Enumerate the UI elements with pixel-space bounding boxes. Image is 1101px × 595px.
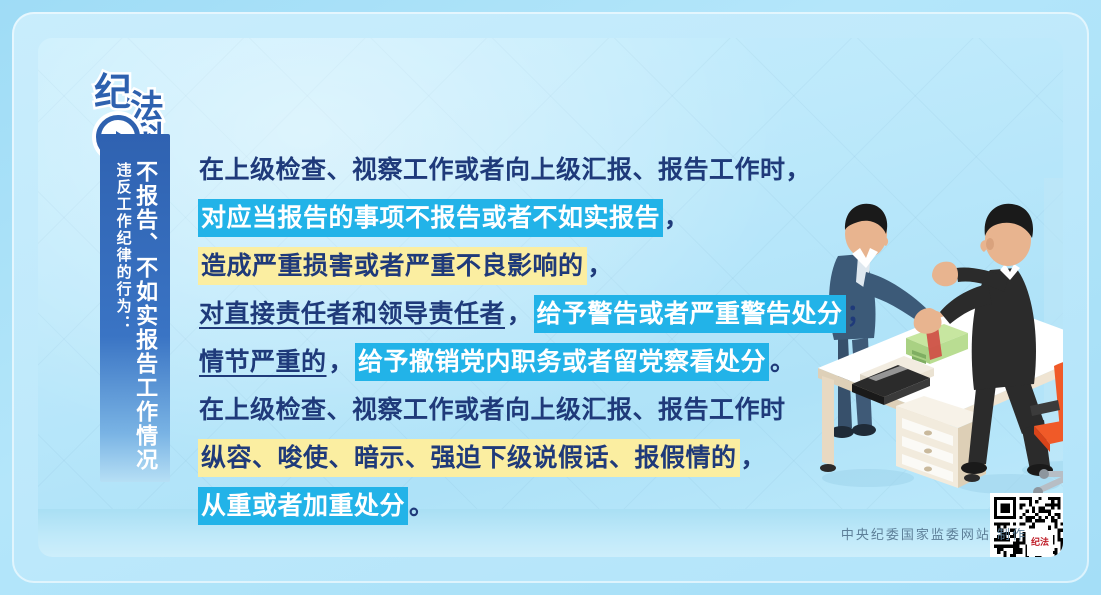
body-line: 情节严重的，给予撤销党内职务或者留党察看处分。: [198, 338, 858, 386]
body-segment-plain: ，: [740, 441, 768, 475]
qr-center-logo: 纪法: [1027, 530, 1053, 556]
body-segment-plain: ，: [587, 249, 615, 283]
body-segment-highlight-cyan: 给予撤销党内职务或者留党察看处分: [355, 343, 769, 381]
body-text-block: 在上级检查、视察工作或者向上级汇报、报告工作时，对应当报告的事项不报告或者不如实…: [198, 146, 858, 530]
body-segment-plain: 。: [408, 489, 436, 523]
poster-inner-frame: 纪 法 科 不报告、不如实报告工作情况 违反工作纪律的行为： 在上级检查、视察工…: [38, 38, 1063, 557]
poster-outer-frame: 纪 法 科 不报告、不如实报告工作情况 违反工作纪律的行为： 在上级检查、视察工…: [12, 12, 1089, 583]
body-line: 对直接责任者和领导责任者，给予警告或者严重警告处分；: [198, 290, 858, 338]
body-segment-plain: ，: [663, 201, 691, 235]
body-line: 在上级检查、视察工作或者向上级汇报、报告工作时，: [198, 146, 858, 194]
body-line: 纵容、唆使、暗示、强迫下级说假话、报假情的，: [198, 434, 858, 482]
logo-char-ji: 纪: [94, 73, 132, 111]
body-segment-highlight-yellow: 纵容、唆使、暗示、强迫下级说假话、报假情的: [198, 439, 740, 477]
body-segment-plain: 在上级检查、视察工作或者向上级汇报、报告工作时，: [198, 153, 812, 187]
body-segment-plain: ，: [328, 345, 356, 379]
body-segment-plain: 。: [769, 345, 797, 379]
body-segment-plain: ，: [506, 297, 534, 331]
body-line: 造成严重损害或者严重不良影响的，: [198, 242, 858, 290]
credit-text: 中央纪委国家监委网站 制作: [841, 524, 1027, 543]
body-line: 对应当报告的事项不报告或者不如实报告，: [198, 194, 858, 242]
banner-sub-title: 违反工作纪律的行为：: [115, 160, 131, 332]
poster-root: 纪 法 科 不报告、不如实报告工作情况 违反工作纪律的行为： 在上级检查、视察工…: [0, 0, 1101, 595]
body-segment-plain: ；: [846, 297, 874, 331]
body-segment-highlight-yellow: 造成严重损害或者严重不良影响的: [198, 247, 587, 285]
body-segment-highlight-cyan: 给予警告或者严重警告处分: [534, 295, 846, 333]
body-line: 从重或者加重处分。: [198, 482, 858, 530]
body-segment-plain: 在上级检查、视察工作或者向上级汇报、报告工作时: [198, 393, 787, 427]
body-segment-underline: 情节严重的: [198, 345, 328, 379]
body-segment-highlight-cyan: 对应当报告的事项不报告或者不如实报告: [198, 199, 663, 237]
body-segment-underline: 对直接责任者和领导责任者: [198, 297, 506, 331]
body-line: 在上级检查、视察工作或者向上级汇报、报告工作时: [198, 386, 858, 434]
body-segment-highlight-cyan: 从重或者加重处分: [198, 487, 408, 525]
vertical-title-banner: 不报告、不如实报告工作情况 违反工作纪律的行为：: [100, 134, 170, 482]
banner-main-title: 不报告、不如实报告工作情况: [133, 160, 155, 472]
